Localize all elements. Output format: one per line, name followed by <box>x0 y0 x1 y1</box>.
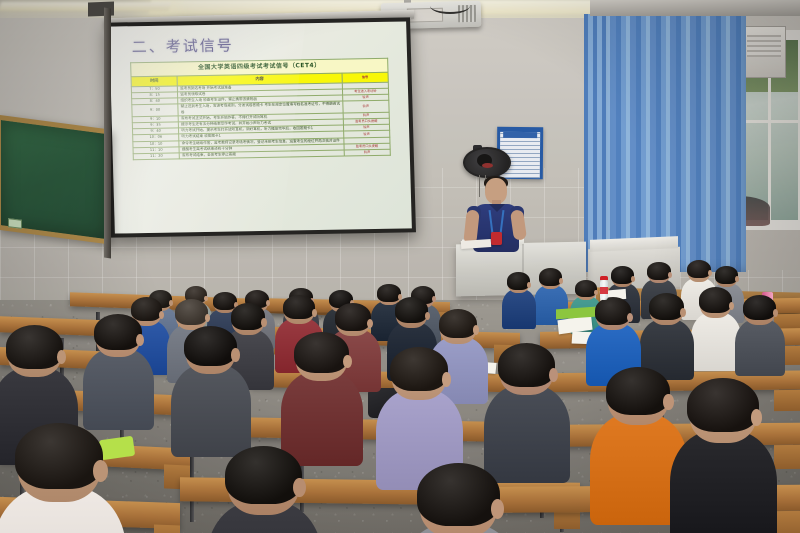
fan-indicator <box>482 163 493 168</box>
slide-title: 二、考试信号 <box>131 34 234 57</box>
fluorescent-light-secondary-icon <box>0 2 171 11</box>
audience-ear <box>205 314 211 322</box>
desk-side-panel <box>774 445 800 469</box>
blue-curtain <box>596 0 746 272</box>
desk-side-panel <box>154 525 180 533</box>
window-mullion-horizontal <box>744 120 798 123</box>
audience-ear <box>668 272 672 278</box>
audience-hair <box>699 287 732 313</box>
audience-torso <box>83 348 154 430</box>
slide-cell-3-0: 9：00 <box>132 104 179 116</box>
audience-hair <box>395 297 428 323</box>
wall-fan-icon <box>463 145 508 179</box>
classroom-photo: 二、考试信号 全国大学英语四级考试考试信号（CET4）时间内容信号7：50监考员… <box>0 0 800 533</box>
audience-hair <box>6 325 63 368</box>
audience-hair <box>335 303 372 331</box>
audience-ear <box>627 313 633 322</box>
ac-grille <box>747 35 781 57</box>
audience-hair <box>15 423 104 489</box>
audience-ear <box>729 302 735 310</box>
slide-cell-10-2: 铃声 <box>344 149 390 156</box>
desk-side-panel <box>774 511 800 533</box>
presenter <box>463 178 527 256</box>
audience-ear <box>549 368 558 382</box>
audience-hair <box>649 293 685 320</box>
audience-hair <box>595 297 632 325</box>
wall-corner-edge <box>104 8 111 259</box>
slide-cell-3-2: 铃声 <box>343 101 390 113</box>
audience-torso <box>670 430 777 533</box>
audience-hair <box>390 347 448 391</box>
audience-ear <box>594 290 598 295</box>
audience-ear <box>663 394 674 410</box>
audience-hair <box>498 343 555 386</box>
chalkboard-label <box>8 218 22 229</box>
audience-ear <box>631 276 635 282</box>
audience-torso <box>281 371 364 466</box>
presenter-badge <box>491 232 502 245</box>
audience-hair <box>417 463 500 526</box>
wall-ac-unit <box>742 26 786 78</box>
audience-ear <box>527 282 531 288</box>
desk-side-panel <box>774 390 800 411</box>
audience-hair <box>687 260 711 278</box>
audience-ear <box>425 312 431 320</box>
audience-torso <box>502 289 536 329</box>
audience-ear <box>491 499 505 519</box>
audience-hair <box>283 295 315 319</box>
audience-ear <box>261 318 267 327</box>
audience-torso <box>691 312 741 371</box>
audience-ear <box>93 460 107 482</box>
audience-hair <box>131 297 162 321</box>
audience-torso <box>735 319 785 376</box>
audience-hair <box>687 378 758 432</box>
audience-hair <box>439 309 478 338</box>
audience-ear <box>57 350 66 364</box>
audience-ear <box>559 278 563 284</box>
audience-ear <box>159 311 164 319</box>
audience-hair <box>94 314 142 350</box>
audience-ear <box>367 319 373 328</box>
green-chalkboard <box>0 114 110 244</box>
blue-curtain-edge <box>584 14 606 272</box>
audience-hair <box>377 284 401 301</box>
bottle-cap <box>600 276 608 280</box>
audience-hair <box>225 446 302 504</box>
audience-hair <box>606 367 671 416</box>
audience-torso <box>484 385 570 484</box>
audience-hair <box>213 292 237 309</box>
slide-signal-table: 全国大学英语四级考试考试信号（CET4）时间内容信号7：50监考员到达考场 开始… <box>130 58 391 161</box>
audience-ear <box>735 276 739 282</box>
projection-screen: 二、考试信号 全国大学英语四级考试考试信号（CET4）时间内容信号7：50监考员… <box>105 17 416 237</box>
audience-torso <box>171 364 250 456</box>
audience-ear <box>312 309 317 317</box>
audience-ear <box>442 372 452 386</box>
bottle-label <box>600 287 608 294</box>
audience-ear <box>204 296 208 301</box>
audience-hair <box>231 303 266 330</box>
audience-ear <box>169 300 173 306</box>
audience-hair <box>184 326 237 366</box>
audience-hair <box>647 262 671 279</box>
curtain-rail <box>590 0 800 16</box>
screen-surface: 二、考试信号 全国大学英语四级考试考试信号（CET4）时间内容信号7：50监考员… <box>109 21 412 233</box>
audience-ear <box>231 348 240 361</box>
audience-hair <box>175 299 208 325</box>
slide-cell-10-0: 11：20 <box>133 153 179 160</box>
audience-hair <box>743 295 776 320</box>
audience-hair <box>294 332 349 373</box>
water-bottle <box>600 276 608 300</box>
